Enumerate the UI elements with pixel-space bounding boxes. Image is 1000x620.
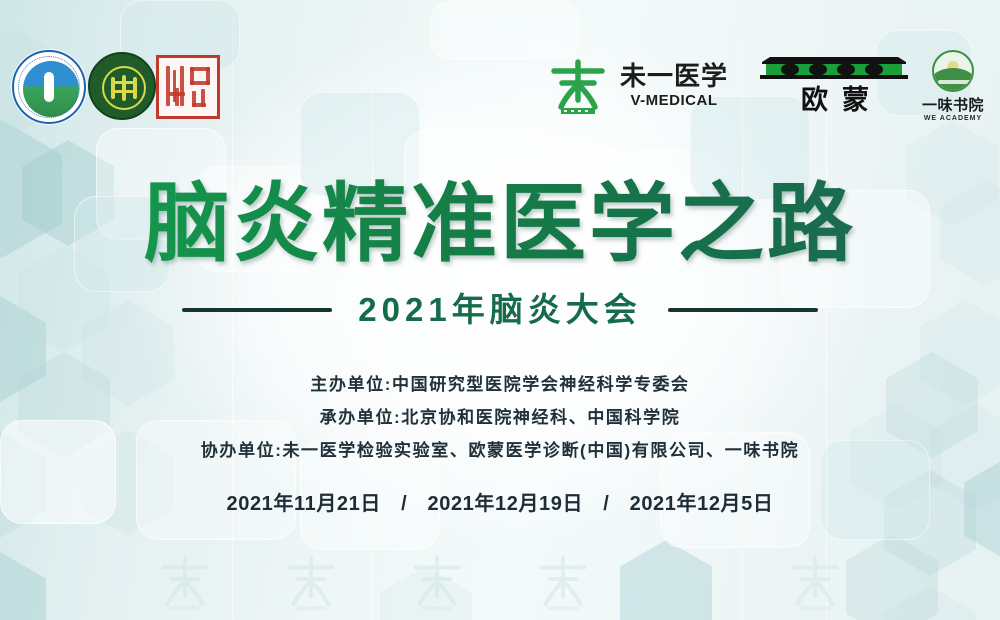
date-separator: / [589, 493, 623, 516]
page-title: 脑炎精准医学之路 [0, 178, 1000, 271]
subtitle-rule-right [668, 308, 818, 312]
date-1: 2021年11月21日 [227, 493, 381, 515]
organizer-coorganizer: 协办单位:未一医学检验实验室、欧蒙医学诊断(中国)有限公司、一味书院 [0, 434, 1000, 467]
date-row: 2021年11月21日 / 2021年12月19日 / 2021年12月5日 [0, 487, 1000, 516]
organizer-undertaker: 承办单位:北京协和医院神经科、中国科学院 [0, 401, 1000, 434]
date-separator: / [387, 493, 421, 516]
subtitle-rule-left [182, 308, 332, 312]
subtitle-row: 2021年脑炎大会 [0, 292, 1000, 328]
subtitle: 2021年脑炎大会 [358, 292, 641, 328]
date-2: 2021年12月19日 [428, 493, 584, 515]
organizer-host: 主办单位:中国研究型医院学会神经科学专委会 [0, 368, 1000, 401]
date-3: 2021年12月5日 [630, 493, 774, 515]
conference-poster: 未一医学 V-MEDICAL 欧蒙 [0, 0, 1000, 620]
organizer-block: 主办单位:中国研究型医院学会神经科学专委会 承办单位:北京协和医院神经科、中国科… [0, 368, 1000, 467]
poster-content: 脑炎精准医学之路 2021年脑炎大会 主办单位:中国研究型医院学会神经科学专委会… [0, 0, 1000, 620]
